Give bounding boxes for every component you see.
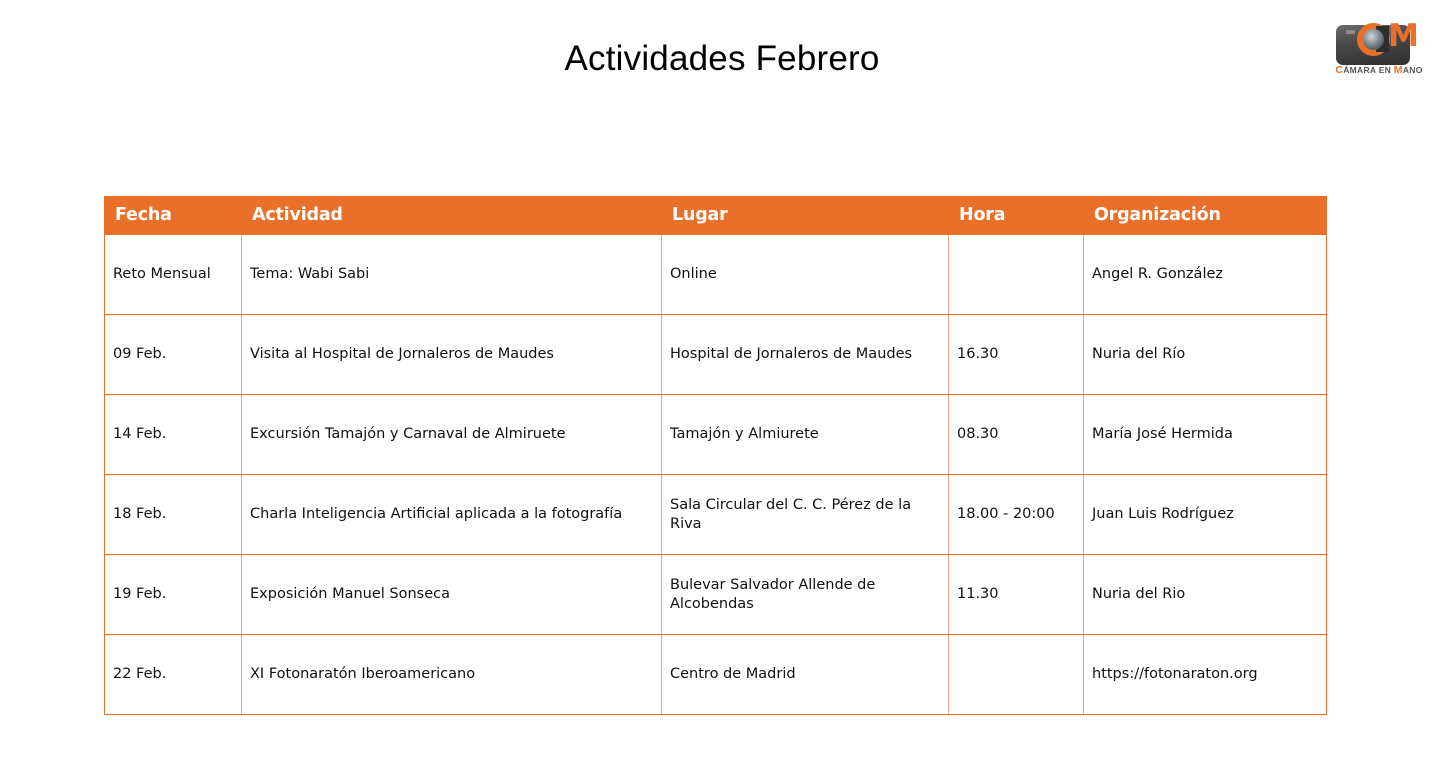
cell-fecha: 09 Feb. [105, 315, 242, 395]
logo-wordmark: CÁMARA EN MANO [1331, 64, 1427, 76]
logo-wordmark-m: M [1394, 64, 1403, 76]
cell-lugar: Online [662, 235, 949, 315]
cell-actividad: Excursión Tamajón y Carnaval de Almiruet… [242, 395, 662, 475]
logo-wordmark-part2: ANO [1403, 65, 1423, 75]
column-header-fecha: Fecha [105, 197, 242, 235]
cell-fecha: Reto Mensual [105, 235, 242, 315]
table-row: Reto Mensual Tema: Wabi Sabi Online Ange… [105, 235, 1327, 315]
cell-hora: 16.30 [949, 315, 1084, 395]
activities-table: Fecha Actividad Lugar Hora Organización … [104, 196, 1327, 715]
table-header-row: Fecha Actividad Lugar Hora Organización [105, 197, 1327, 235]
letter-m-icon: M [1388, 21, 1418, 52]
table-row: 19 Feb. Exposición Manuel Sonseca Buleva… [105, 555, 1327, 635]
cell-organizacion: Juan Luis Rodríguez [1084, 475, 1327, 555]
page-title: Actividades Febrero [0, 38, 1444, 80]
cell-hora [949, 635, 1084, 715]
camara-en-mano-logo: M CÁMARA EN MANO [1330, 17, 1428, 79]
table-header: Fecha Actividad Lugar Hora Organización [105, 197, 1327, 235]
cell-organizacion: Angel R. González [1084, 235, 1327, 315]
cell-actividad: Exposición Manuel Sonseca [242, 555, 662, 635]
cell-fecha: 18 Feb. [105, 475, 242, 555]
camera-lens-icon [1363, 29, 1384, 50]
cell-actividad: Visita al Hospital de Jornaleros de Maud… [242, 315, 662, 395]
cell-organizacion: https://fotonaraton.org [1084, 635, 1327, 715]
column-header-lugar: Lugar [662, 197, 949, 235]
cell-fecha: 19 Feb. [105, 555, 242, 635]
cell-actividad: Charla Inteligencia Artificial aplicada … [242, 475, 662, 555]
table-row: 09 Feb. Visita al Hospital de Jornaleros… [105, 315, 1327, 395]
activities-table-wrapper: Fecha Actividad Lugar Hora Organización … [104, 196, 1326, 715]
cell-hora: 08.30 [949, 395, 1084, 475]
cell-actividad: XI Fotonaratón Iberoamericano [242, 635, 662, 715]
cell-lugar: Sala Circular del C. C. Pérez de la Riva [662, 475, 949, 555]
table-row: 18 Feb. Charla Inteligencia Artificial a… [105, 475, 1327, 555]
column-header-organizacion: Organización [1084, 197, 1327, 235]
cell-lugar: Hospital de Jornaleros de Maudes [662, 315, 949, 395]
cell-lugar: Tamajón y Almiurete [662, 395, 949, 475]
camera-flash-icon [1346, 30, 1355, 34]
column-header-hora: Hora [949, 197, 1084, 235]
cell-hora: 18.00 - 20:00 [949, 475, 1084, 555]
table-row: 14 Feb. Excursión Tamajón y Carnaval de … [105, 395, 1327, 475]
logo-wordmark-part1: ÁMARA EN [1343, 65, 1394, 75]
column-header-actividad: Actividad [242, 197, 662, 235]
cell-lugar: Bulevar Salvador Allende de Alcobendas [662, 555, 949, 635]
cell-organizacion: María José Hermida [1084, 395, 1327, 475]
cell-organizacion: Nuria del Río [1084, 315, 1327, 395]
cell-actividad: Tema: Wabi Sabi [242, 235, 662, 315]
table-row: 22 Feb. XI Fotonaratón Iberoamericano Ce… [105, 635, 1327, 715]
table-body: Reto Mensual Tema: Wabi Sabi Online Ange… [105, 235, 1327, 715]
cell-fecha: 22 Feb. [105, 635, 242, 715]
cell-lugar: Centro de Madrid [662, 635, 949, 715]
cell-organizacion: Nuria del Rio [1084, 555, 1327, 635]
cell-hora [949, 235, 1084, 315]
cell-hora: 11.30 [949, 555, 1084, 635]
cell-fecha: 14 Feb. [105, 395, 242, 475]
